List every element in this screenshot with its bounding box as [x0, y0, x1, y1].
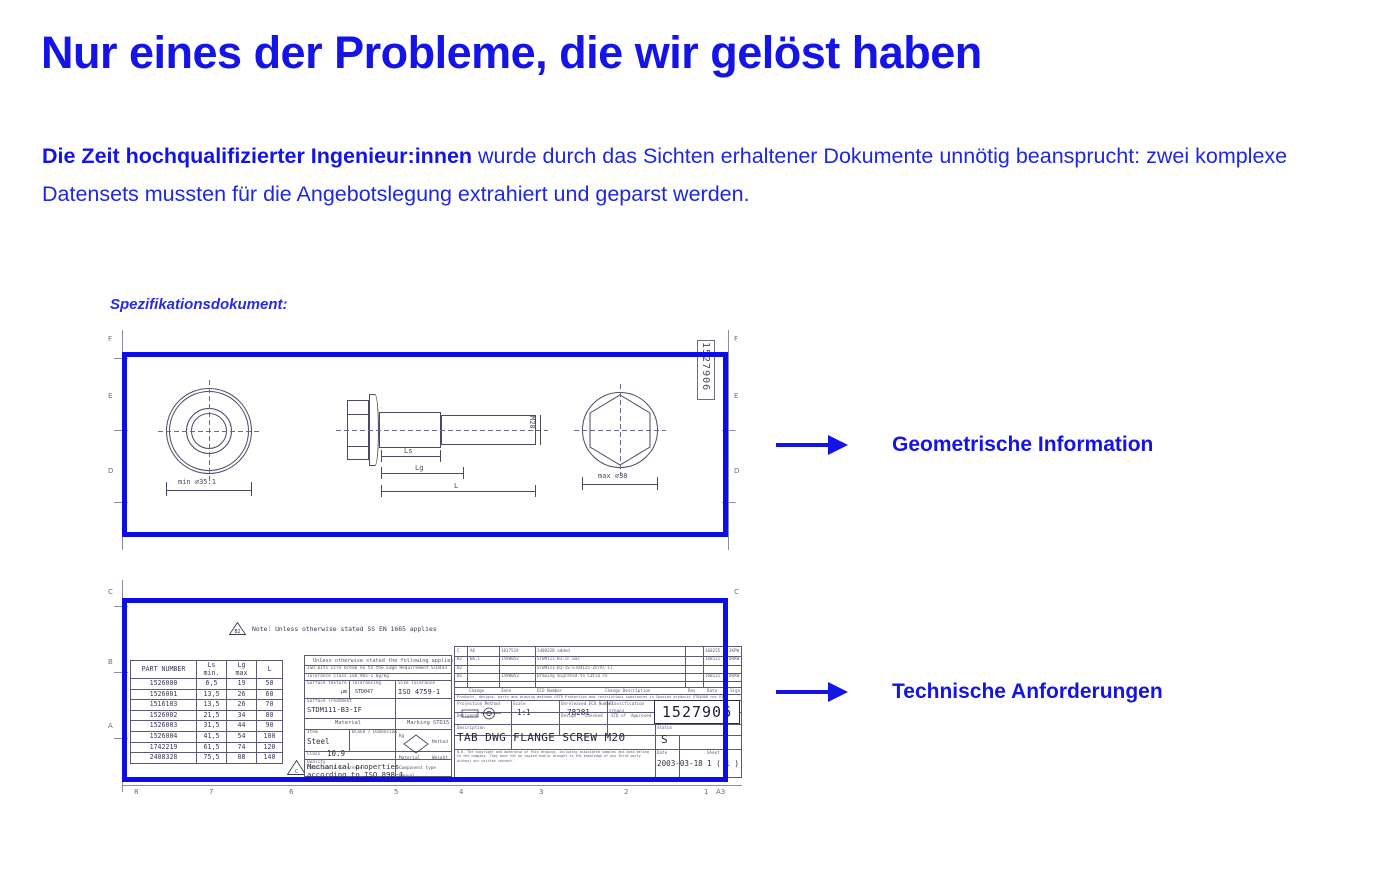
col-header-lg-sub: max	[236, 669, 248, 677]
tb-divider	[655, 735, 656, 779]
tolerancing-label: Tolerancing	[352, 681, 381, 686]
revision-flag-b2-label: B2	[229, 629, 246, 635]
spec-std-ref: STD443	[431, 666, 447, 671]
title-block: CA610175192408328 added160225JKPWB2B6,C1…	[454, 646, 742, 778]
revision-description: 2408328 added	[537, 648, 570, 653]
blank-dimension-label: Blank / Dimension	[352, 730, 397, 735]
col-num-5: 5	[394, 788, 398, 796]
revision-approver: B6,C	[470, 656, 480, 661]
parts-table: PART NUMBER Ls min. Lg max L 15260006,51…	[130, 660, 283, 764]
material-small-label: Material	[399, 756, 420, 761]
description-value: TAB DWG FLANGE SCREW M20	[457, 731, 626, 744]
revision-doc: 1590053	[501, 673, 519, 678]
revision-date: 160121	[705, 656, 720, 661]
rev-col-sign: Sign	[730, 688, 740, 693]
revision-doc: 1590053	[501, 656, 519, 661]
sheet-format-label: A3	[716, 788, 725, 796]
lg-dimension-label: Lg	[415, 464, 423, 472]
revision-sign: DRAW	[729, 673, 739, 678]
callout-label-requirements: Technische Anforderungen	[892, 680, 1163, 704]
sheet-value: 1 ( 1 )	[707, 759, 739, 768]
designed-label: Designed	[457, 713, 477, 718]
revision-sign: DRAW	[729, 656, 739, 661]
callout-technical-requirements: Technische Anforderungen	[776, 679, 1163, 705]
dimtick	[657, 477, 658, 490]
item-value: Steel	[307, 737, 330, 746]
lg-dimline	[381, 473, 464, 474]
class-value: 10.9	[327, 749, 345, 758]
revision-rev: B2	[457, 656, 462, 661]
revision-rev: B2	[457, 665, 462, 670]
col-header-ls: Ls min.	[197, 661, 227, 679]
table-row: 15260006,51950	[131, 679, 283, 690]
callout-label-geometry: Geometrische Information	[892, 433, 1153, 457]
drawing-number-box: 1527906	[654, 700, 740, 724]
head-view-dimension: max ⌀38	[598, 472, 628, 480]
revision-doc: 1017519	[501, 648, 519, 653]
table-cell: 2408328	[131, 753, 197, 764]
table-cell: 140	[257, 753, 283, 764]
legal-note: Products, designs, parts and drawing met…	[457, 695, 723, 699]
table-cell: 21,5	[197, 710, 227, 721]
rev-col-zone: Zone	[501, 688, 511, 693]
table-cell: 44	[227, 721, 257, 732]
dimtick	[166, 482, 167, 496]
table-cell: 50	[257, 679, 283, 690]
size-tolerance-value: ISO 4759-1	[398, 688, 440, 696]
table-cell: 60	[257, 689, 283, 700]
weight-label: Weight	[432, 756, 448, 761]
table-cell: 75,5	[197, 753, 227, 764]
table-cell: 26	[227, 700, 257, 711]
status-label: Status	[657, 725, 672, 730]
table-row: 151610313,52670	[131, 700, 283, 711]
rev-col-rev: Rev	[688, 688, 696, 693]
component-type-label: Component type	[399, 766, 436, 771]
rev-col-ecn: ECO Number	[537, 688, 562, 693]
drawing-note: B2 Note: Unless otherwise stated SS EN 1…	[229, 622, 437, 635]
spec-divider	[305, 759, 451, 760]
table-cell: 1526002	[131, 710, 197, 721]
spec-sub1: ISO mits scre break no to the Edge Requi…	[307, 666, 429, 671]
class-label: Class	[307, 752, 320, 757]
table-cell: 120	[257, 742, 283, 753]
col-num-6: 6	[289, 788, 293, 796]
tb-divider	[455, 656, 741, 657]
col-num-4: 4	[459, 788, 463, 796]
table-cell: 1516103	[131, 700, 197, 711]
tick	[114, 738, 128, 739]
table-cell: 1526001	[131, 689, 197, 700]
l-dimension-label: L	[454, 482, 458, 490]
spec-divider-v	[349, 729, 350, 751]
col-header-lg: Lg max	[227, 661, 257, 679]
scale-value: 1:1	[517, 708, 531, 717]
projection-method-label: Projection Method	[457, 701, 500, 706]
checked-label: Checked	[585, 713, 603, 718]
table-row: 152600331,54490	[131, 721, 283, 732]
table-cell: 61,5	[197, 742, 227, 753]
tb-divider	[559, 700, 560, 735]
sheet-frame-left	[122, 580, 123, 792]
col-num-2: 2	[624, 788, 628, 796]
scale-label: Scale	[513, 701, 526, 706]
revision-description: STDM111-B3-IS-STD4125-Zn/Al C7	[537, 665, 613, 670]
status-value: S	[661, 733, 668, 746]
drawing-number-value: 1527906	[662, 703, 732, 721]
col-num-3: 3	[539, 788, 543, 796]
tb-divider	[455, 681, 741, 682]
front-view-dimline	[166, 490, 252, 491]
date-value: 2003-03-18	[657, 759, 703, 768]
spec-sub2: Tolerance class ISO 965-1 6g/6g	[307, 674, 389, 679]
date-label: Date	[657, 750, 667, 755]
unreleased-eco-label: Unreleased ECO Number	[561, 701, 614, 706]
rev-col-change: Change	[469, 688, 484, 693]
rev-col-desc: Change Description	[605, 688, 650, 693]
table-cell: 1526000	[131, 679, 197, 690]
dimtick	[251, 482, 252, 496]
table-cell: 26	[227, 689, 257, 700]
table-cell: 88	[227, 753, 257, 764]
table-cell: 70	[257, 700, 283, 711]
table-row: 240832875,588140	[131, 753, 283, 764]
drawing-sheet-bottom: C B A C B A 8 7 6 5 4 3 2 1 A3 B2 Note: …	[104, 580, 752, 800]
table-cell: 1526004	[131, 732, 197, 743]
spec-document-caption: Spezifikationsdokument:	[110, 296, 288, 313]
spec-divider-v	[395, 680, 396, 718]
surface-texture-value: μm	[341, 689, 347, 695]
table-row: 174221961,574120	[131, 742, 283, 753]
table-cell: 1742219	[131, 742, 197, 753]
table-cell: 19	[227, 679, 257, 690]
spec-divider	[305, 718, 451, 719]
hex-head-edge-top	[347, 414, 369, 415]
col-header-l: L	[257, 661, 283, 679]
revision-date: 160121	[705, 673, 720, 678]
drawing-note-text: Note: Unless otherwise stated SS EN 1665…	[252, 625, 437, 633]
intro-bold-lead: Die Zeit hochqualifizierter Ingenieur:in…	[42, 144, 472, 168]
table-cell: 13,5	[197, 689, 227, 700]
table-row: 152600221,53480	[131, 710, 283, 721]
approved-label: Approved	[631, 713, 651, 718]
marking-diamond-icon	[403, 734, 429, 754]
col-num-8: 8	[134, 788, 138, 796]
spec-divider-v	[349, 680, 350, 698]
sheet-frame-bottom	[122, 785, 742, 786]
tolerancing-value: STD047	[355, 689, 373, 695]
table-cell: 6,5	[197, 679, 227, 690]
classification-label: Classification	[609, 701, 644, 706]
condition-value-2: according to ISO 898-1	[307, 770, 404, 779]
row-letter-c: C	[108, 588, 113, 596]
front-view	[166, 388, 252, 474]
table-row: 152600441,554100	[131, 732, 283, 743]
drawing-sheet-top: F E D F E D 1527906 min ⌀35.1	[104, 330, 752, 550]
centerline-vertical	[209, 380, 210, 482]
tick	[114, 606, 128, 607]
arrow-right-icon	[776, 432, 848, 458]
drawing-top-content: min ⌀35.1 M20 Ls Lg	[104, 330, 752, 550]
hex-head-edge-bottom	[347, 446, 369, 447]
dimtick	[381, 450, 382, 462]
dimtick	[463, 467, 464, 479]
rev-col-date: Date	[707, 688, 717, 693]
method-label: Method	[432, 740, 448, 745]
spec-header: Unless otherwise stated the following ap…	[313, 658, 454, 664]
revision-approver: A6	[470, 648, 475, 653]
col-header-part-number: PART NUMBER	[131, 661, 197, 679]
thread-designation: M20	[528, 416, 536, 429]
head-view-dimline	[582, 484, 658, 485]
side-view-centerline	[336, 430, 548, 431]
revision-description: STDM111-B3-IF was	[537, 656, 580, 661]
col-num-1: 1	[704, 788, 708, 796]
table-cell: 1526003	[131, 721, 197, 732]
row-letter-a: A	[108, 722, 113, 730]
col-header-ls-sub: min.	[204, 669, 220, 677]
intro-paragraph: Die Zeit hochqualifizierter Ingenieur:in…	[42, 137, 1312, 213]
page-title: Nur eines der Probleme, die wir gelöst h…	[41, 27, 982, 79]
table-cell: 80	[257, 710, 283, 721]
revision-description: Drawing migrated to Catia v5	[537, 673, 608, 678]
revision-rev: B1	[457, 673, 462, 678]
ls-dimline	[381, 456, 441, 457]
row-letter-c-right: C	[734, 588, 739, 596]
thread-dim-tick	[540, 415, 541, 445]
front-view-dimension: min ⌀35.1	[178, 478, 216, 486]
table-cell: 41,5	[197, 732, 227, 743]
table-cell: 54	[227, 732, 257, 743]
sheet-label: Sheet	[707, 750, 720, 755]
specification-block: Unless otherwise stated the following ap…	[304, 655, 452, 777]
kg-label: Kg	[399, 734, 404, 739]
table-cell: 34	[227, 710, 257, 721]
col-num-7: 7	[209, 788, 213, 796]
arrow-right-icon	[776, 679, 848, 705]
revision-rev: C	[457, 648, 460, 653]
size-tolerance-label: Size Tolerance	[398, 681, 435, 686]
parts-table-body: 15260006,51950152600113,52660151610313,5…	[131, 679, 283, 764]
table-cell: 31,5	[197, 721, 227, 732]
table-cell: 100	[257, 732, 283, 743]
dimtick	[440, 450, 441, 462]
tb-divider	[455, 724, 741, 725]
revision-flag-b2-icon: B2	[229, 622, 246, 635]
tb-divider	[455, 687, 741, 688]
item-label: Item	[307, 730, 318, 735]
marking-section-label: Marking STD15	[407, 720, 449, 726]
dimtick	[381, 485, 382, 497]
table-row: 152600113,52660	[131, 689, 283, 700]
dimtick	[535, 485, 536, 497]
revision-sign: JKPW	[729, 648, 739, 653]
l-dimline	[381, 491, 536, 492]
tick	[114, 672, 128, 673]
tb-divider	[679, 735, 680, 779]
manual-label: Manual	[399, 774, 415, 779]
std-of-label: STD of	[611, 713, 626, 718]
parts-table-header-row: PART NUMBER Ls min. Lg max L	[131, 661, 283, 679]
copyright-note: N.B. The copyright and ownership of this…	[457, 750, 653, 763]
centerline-vertical	[620, 384, 621, 476]
table-cell: 13,5	[197, 700, 227, 711]
dimtick	[582, 477, 583, 490]
table-cell: 90	[257, 721, 283, 732]
design-label: Design	[561, 713, 576, 718]
row-letter-b: B	[108, 658, 113, 666]
dimtick	[381, 467, 382, 479]
table-cell: 74	[227, 742, 257, 753]
ls-dimension-label: Ls	[404, 447, 412, 455]
head-view	[582, 392, 658, 468]
surface-treatment-value: STDM111-B3-IF	[307, 706, 362, 714]
surface-texture-label: Surface texture	[307, 681, 347, 686]
material-section-label: Material	[335, 720, 361, 726]
callout-geometric-information: Geometrische Information	[776, 432, 1153, 458]
description-label: Description	[457, 725, 485, 730]
surface-treatment-label: Surface Treatment	[307, 699, 352, 704]
revision-date: 160225	[705, 648, 720, 653]
